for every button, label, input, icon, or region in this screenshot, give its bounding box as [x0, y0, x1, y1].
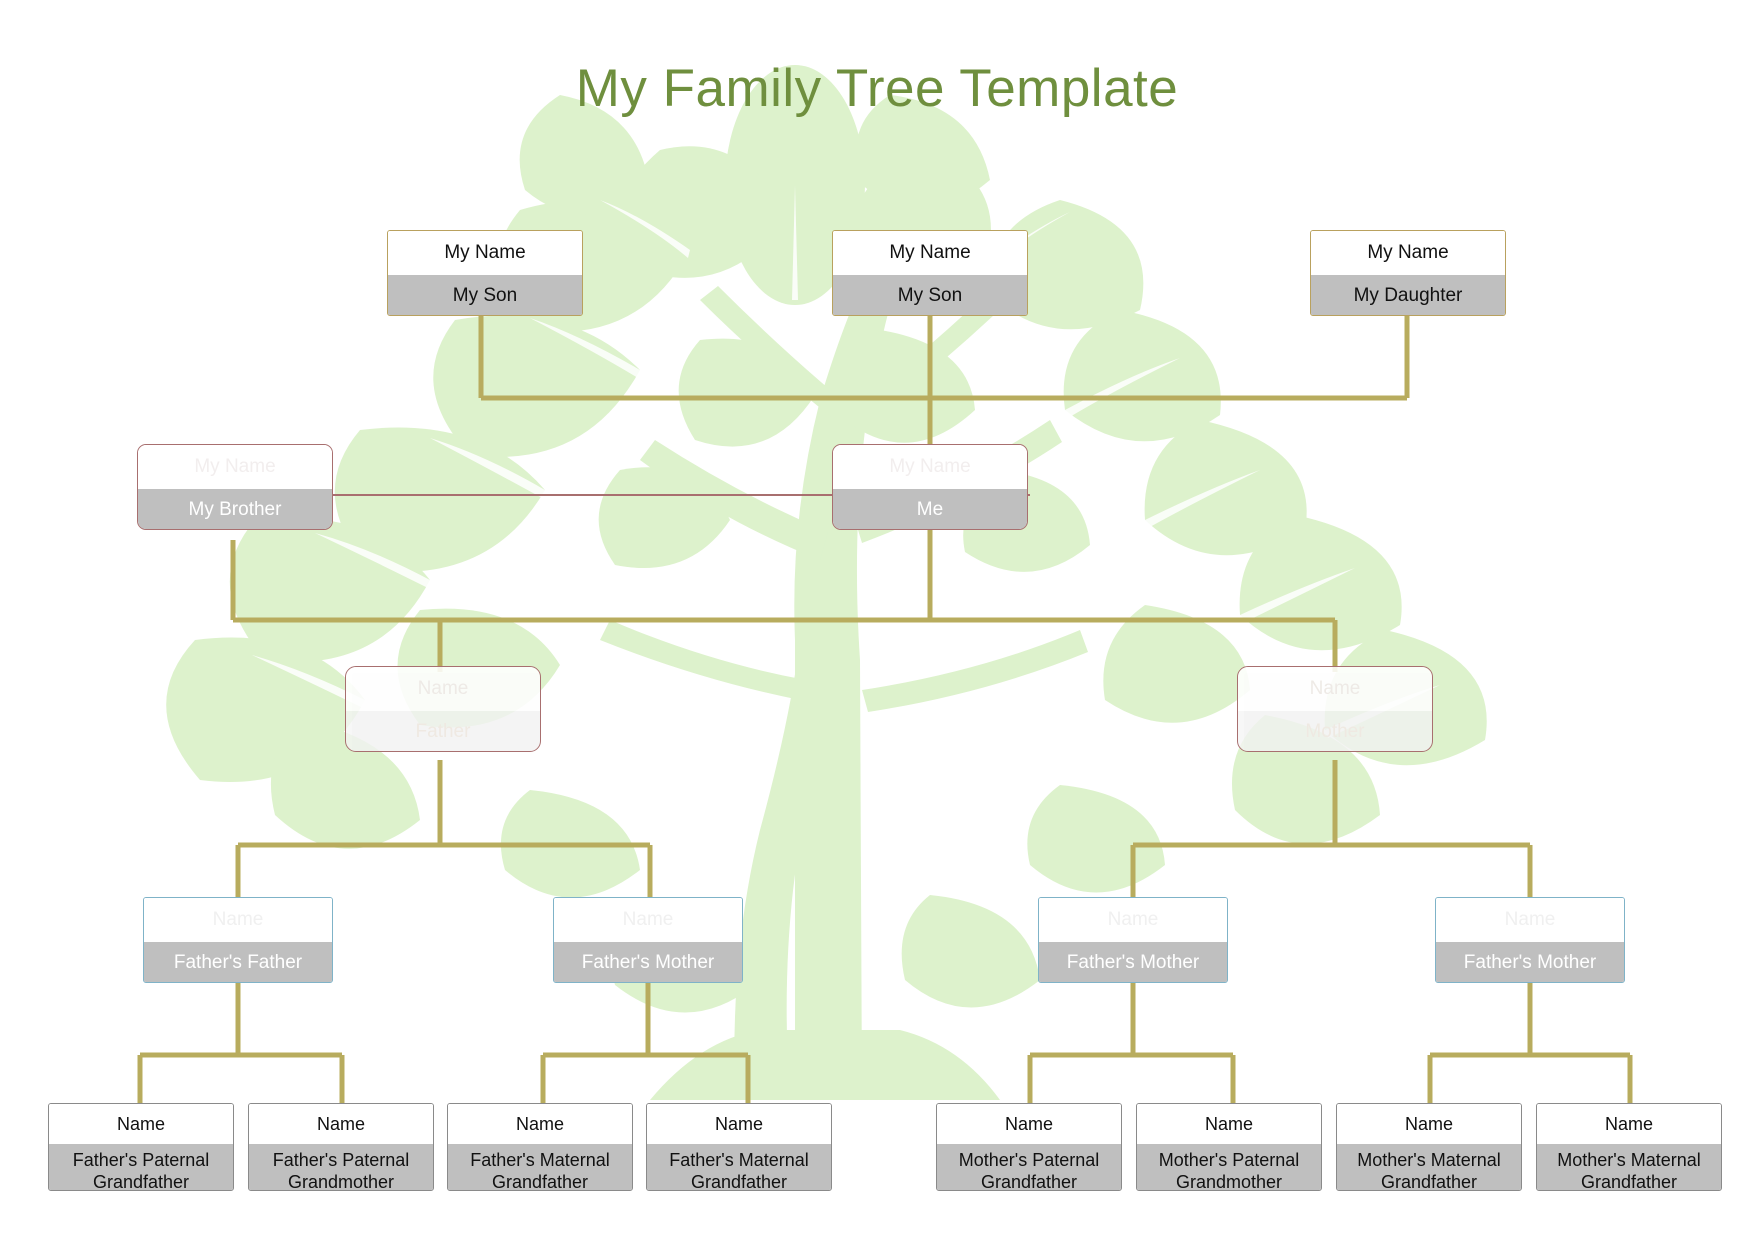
node-name-field[interactable]: My Name [138, 445, 332, 489]
node-parent-mother[interactable]: Name Mother [1237, 666, 1433, 752]
node-role-label[interactable]: My Son [388, 275, 582, 316]
node-child-2[interactable]: My Name My Son [832, 230, 1028, 316]
node-role-label[interactable]: Father's Paternal Grandmother [249, 1144, 433, 1191]
node-role-line-1: Mother's Maternal [1337, 1149, 1521, 1171]
node-name-field[interactable]: Name [448, 1104, 632, 1144]
node-role-label[interactable]: My Brother [138, 489, 332, 530]
node-child-3[interactable]: My Name My Daughter [1310, 230, 1506, 316]
node-role-label[interactable]: Me [833, 489, 1027, 530]
node-great-grandparent-8[interactable]: Name Mother's Maternal Grandfather [1536, 1103, 1722, 1191]
node-grandparent-3[interactable]: Name Father's Mother [1038, 897, 1228, 983]
node-parent-father[interactable]: Name Father [345, 666, 541, 752]
node-name-field[interactable]: Name [1436, 898, 1624, 942]
node-role-line-2: Grandfather [1537, 1171, 1721, 1191]
node-role-label[interactable]: Father's Mother [1436, 942, 1624, 983]
node-role-label[interactable]: Father's Mother [1039, 942, 1227, 983]
node-name-field[interactable]: Name [554, 898, 742, 942]
node-great-grandparent-7[interactable]: Name Mother's Maternal Grandfather [1336, 1103, 1522, 1191]
page-title: My Family Tree Template [0, 58, 1754, 119]
node-role-label[interactable]: Mother's Maternal Grandfather [1337, 1144, 1521, 1191]
node-role-label[interactable]: Father [346, 711, 540, 752]
node-grandparent-1[interactable]: Name Father's Father [143, 897, 333, 983]
node-name-field[interactable]: My Name [833, 231, 1027, 275]
node-role-label[interactable]: Mother's Paternal Grandfather [937, 1144, 1121, 1191]
node-name-field[interactable]: Name [647, 1104, 831, 1144]
node-name-field[interactable]: My Name [833, 445, 1027, 489]
node-role-line-1: Father's Paternal [249, 1149, 433, 1171]
node-great-grandparent-4[interactable]: Name Father's Maternal Grandfather [646, 1103, 832, 1191]
node-name-field[interactable]: Name [1238, 667, 1432, 711]
node-name-field[interactable]: Name [144, 898, 332, 942]
family-tree-canvas: My Family Tree Template My Name My Son M… [0, 0, 1754, 1240]
node-name-field[interactable]: Name [1537, 1104, 1721, 1144]
node-role-label[interactable]: Father's Paternal Grandfather [49, 1144, 233, 1191]
node-role-label[interactable]: Mother's Maternal Grandfather [1537, 1144, 1721, 1191]
node-grandparent-2[interactable]: Name Father's Mother [553, 897, 743, 983]
node-role-line-1: Mother's Paternal [1137, 1149, 1321, 1171]
node-role-line-2: Grandfather [448, 1171, 632, 1191]
node-name-field[interactable]: My Name [388, 231, 582, 275]
node-role-line-2: Grandfather [937, 1171, 1121, 1191]
node-role-line-2: Grandfather [49, 1171, 233, 1191]
node-role-label[interactable]: Father's Maternal Grandfather [647, 1144, 831, 1191]
node-role-label[interactable]: Father's Maternal Grandfather [448, 1144, 632, 1191]
node-great-grandparent-2[interactable]: Name Father's Paternal Grandmother [248, 1103, 434, 1191]
node-grandparent-4[interactable]: Name Father's Mother [1435, 897, 1625, 983]
node-role-label[interactable]: Mother's Paternal Grandmother [1137, 1144, 1321, 1191]
node-name-field[interactable]: Name [1137, 1104, 1321, 1144]
connector-lines [0, 0, 1754, 1240]
node-self-me[interactable]: My Name Me [832, 444, 1028, 530]
node-role-line-2: Grandmother [1137, 1171, 1321, 1191]
node-name-field[interactable]: Name [1039, 898, 1227, 942]
node-role-label[interactable]: My Daughter [1311, 275, 1505, 316]
node-role-line-2: Grandmother [249, 1171, 433, 1191]
node-role-line-2: Grandfather [647, 1171, 831, 1191]
node-role-line-1: Father's Paternal [49, 1149, 233, 1171]
node-role-line-1: Mother's Paternal [937, 1149, 1121, 1171]
node-great-grandparent-3[interactable]: Name Father's Maternal Grandfather [447, 1103, 633, 1191]
node-great-grandparent-1[interactable]: Name Father's Paternal Grandfather [48, 1103, 234, 1191]
node-sibling-brother[interactable]: My Name My Brother [137, 444, 333, 530]
node-role-line-1: Father's Maternal [448, 1149, 632, 1171]
node-name-field[interactable]: My Name [1311, 231, 1505, 275]
node-name-field[interactable]: Name [346, 667, 540, 711]
node-role-label[interactable]: Father's Mother [554, 942, 742, 983]
node-name-field[interactable]: Name [249, 1104, 433, 1144]
node-name-field[interactable]: Name [1337, 1104, 1521, 1144]
node-name-field[interactable]: Name [937, 1104, 1121, 1144]
node-name-field[interactable]: Name [49, 1104, 233, 1144]
node-great-grandparent-5[interactable]: Name Mother's Paternal Grandfather [936, 1103, 1122, 1191]
node-role-line-2: Grandfather [1337, 1171, 1521, 1191]
node-role-label[interactable]: My Son [833, 275, 1027, 316]
node-great-grandparent-6[interactable]: Name Mother's Paternal Grandmother [1136, 1103, 1322, 1191]
node-child-1[interactable]: My Name My Son [387, 230, 583, 316]
node-role-label[interactable]: Mother [1238, 711, 1432, 752]
node-role-label[interactable]: Father's Father [144, 942, 332, 983]
node-role-line-1: Father's Maternal [647, 1149, 831, 1171]
node-role-line-1: Mother's Maternal [1537, 1149, 1721, 1171]
